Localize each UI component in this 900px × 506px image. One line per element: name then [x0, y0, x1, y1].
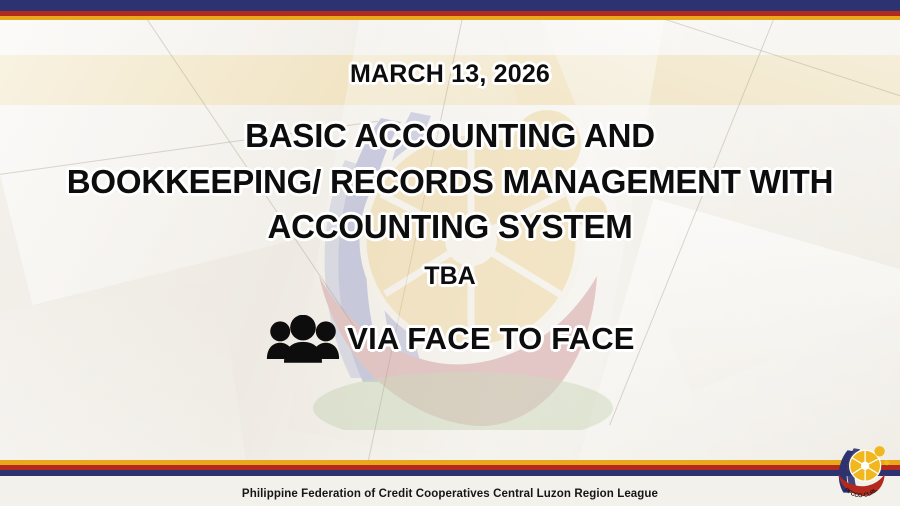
event-date: MARCH 13, 2026 — [350, 62, 550, 87]
event-poster: MARCH 13, 2026 BASIC ACCOUNTING AND BOOK… — [0, 0, 900, 506]
footer-organization-name: Philippine Federation of Credit Cooperat… — [0, 488, 900, 500]
top-flag-stripes — [0, 0, 900, 20]
event-mode-label: VIA FACE TO FACE — [347, 323, 634, 354]
title-line-3: ACCOUNTING SYSTEM — [10, 204, 890, 250]
stripe-navy — [0, 0, 900, 11]
poster-content: MARCH 13, 2026 BASIC ACCOUNTING AND BOOK… — [0, 0, 900, 506]
event-title: BASIC ACCOUNTING AND BOOKKEEPING/ RECORD… — [10, 113, 890, 250]
event-venue: TBA — [424, 264, 475, 289]
stripe-gold — [0, 16, 900, 20]
pfcco-clrl-logo: PFCCO-CLRL — [830, 442, 892, 504]
event-mode-row: VIA FACE TO FACE — [265, 315, 634, 363]
title-line-1: BASIC ACCOUNTING AND — [10, 113, 890, 159]
bottom-flag-stripes — [0, 460, 900, 476]
title-line-2: BOOKKEEPING/ RECORDS MANAGEMENT WITH — [10, 159, 890, 205]
people-group-icon — [265, 315, 341, 363]
